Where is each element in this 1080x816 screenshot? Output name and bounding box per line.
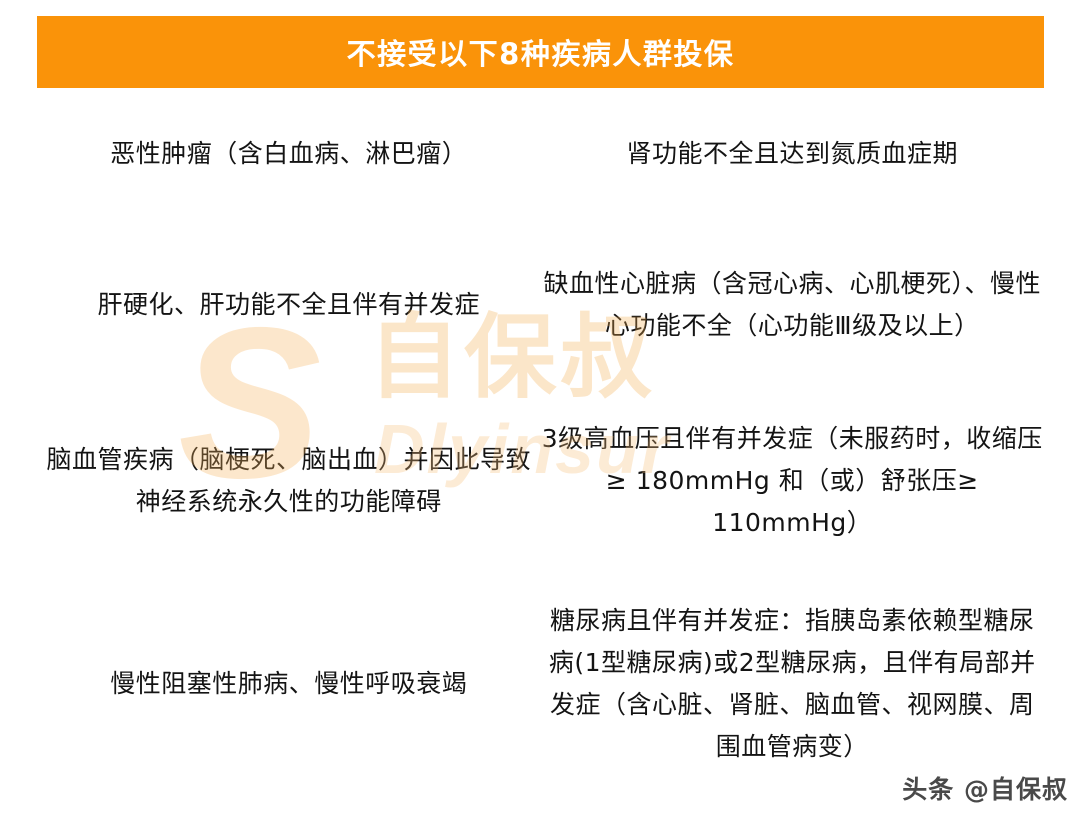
table-title: 不接受以下8种疾病人群投保 <box>37 16 1044 88</box>
row-4-left-cell: 慢性阻塞性肺病、慢性呼吸衰竭 <box>37 570 541 798</box>
row-1-right-cell: 肾功能不全且达到氮质血症期 <box>541 88 1045 219</box>
row-4-right-cell: 糖尿病且伴有并发症：指胰岛素依赖型糖尿病(1型糖尿病)或2型糖尿病，且伴有局部并… <box>541 570 1045 798</box>
table-row: 恶性肿瘤（含白血病、淋巴瘤） 肾功能不全且达到氮质血症期 <box>37 88 1044 219</box>
row-2-left-cell: 肝硬化、肝功能不全且伴有并发症 <box>37 219 541 391</box>
disease-exclusion-table-wrapper: 不接受以下8种疾病人群投保 恶性肿瘤（含白血病、淋巴瘤） 肾功能不全且达到氮质血… <box>37 16 1044 798</box>
table-row: 肝硬化、肝功能不全且伴有并发症 缺血性心脏病（含冠心病、心肌梗死）、慢性心功能不… <box>37 219 1044 391</box>
table-header-row: 不接受以下8种疾病人群投保 <box>37 16 1044 88</box>
row-3-right-cell: 3级高血压且伴有并发症（未服药时，收缩压≥ 180mmHg 和（或）舒张压≥ 1… <box>541 391 1045 570</box>
disease-exclusion-table: 不接受以下8种疾病人群投保 恶性肿瘤（含白血病、淋巴瘤） 肾功能不全且达到氮质血… <box>37 16 1044 798</box>
table-row: 脑血管疾病（脑梗死、脑出血）并因此导致神经系统永久性的功能障碍 3级高血压且伴有… <box>37 391 1044 570</box>
table-row: 慢性阻塞性肺病、慢性呼吸衰竭 糖尿病且伴有并发症：指胰岛素依赖型糖尿病(1型糖尿… <box>37 570 1044 798</box>
row-3-left-cell: 脑血管疾病（脑梗死、脑出血）并因此导致神经系统永久性的功能障碍 <box>37 391 541 570</box>
row-1-left-cell: 恶性肿瘤（含白血病、淋巴瘤） <box>37 88 541 219</box>
row-2-right-cell: 缺血性心脏病（含冠心病、心肌梗死）、慢性心功能不全（心功能Ⅲ级及以上） <box>541 219 1045 391</box>
